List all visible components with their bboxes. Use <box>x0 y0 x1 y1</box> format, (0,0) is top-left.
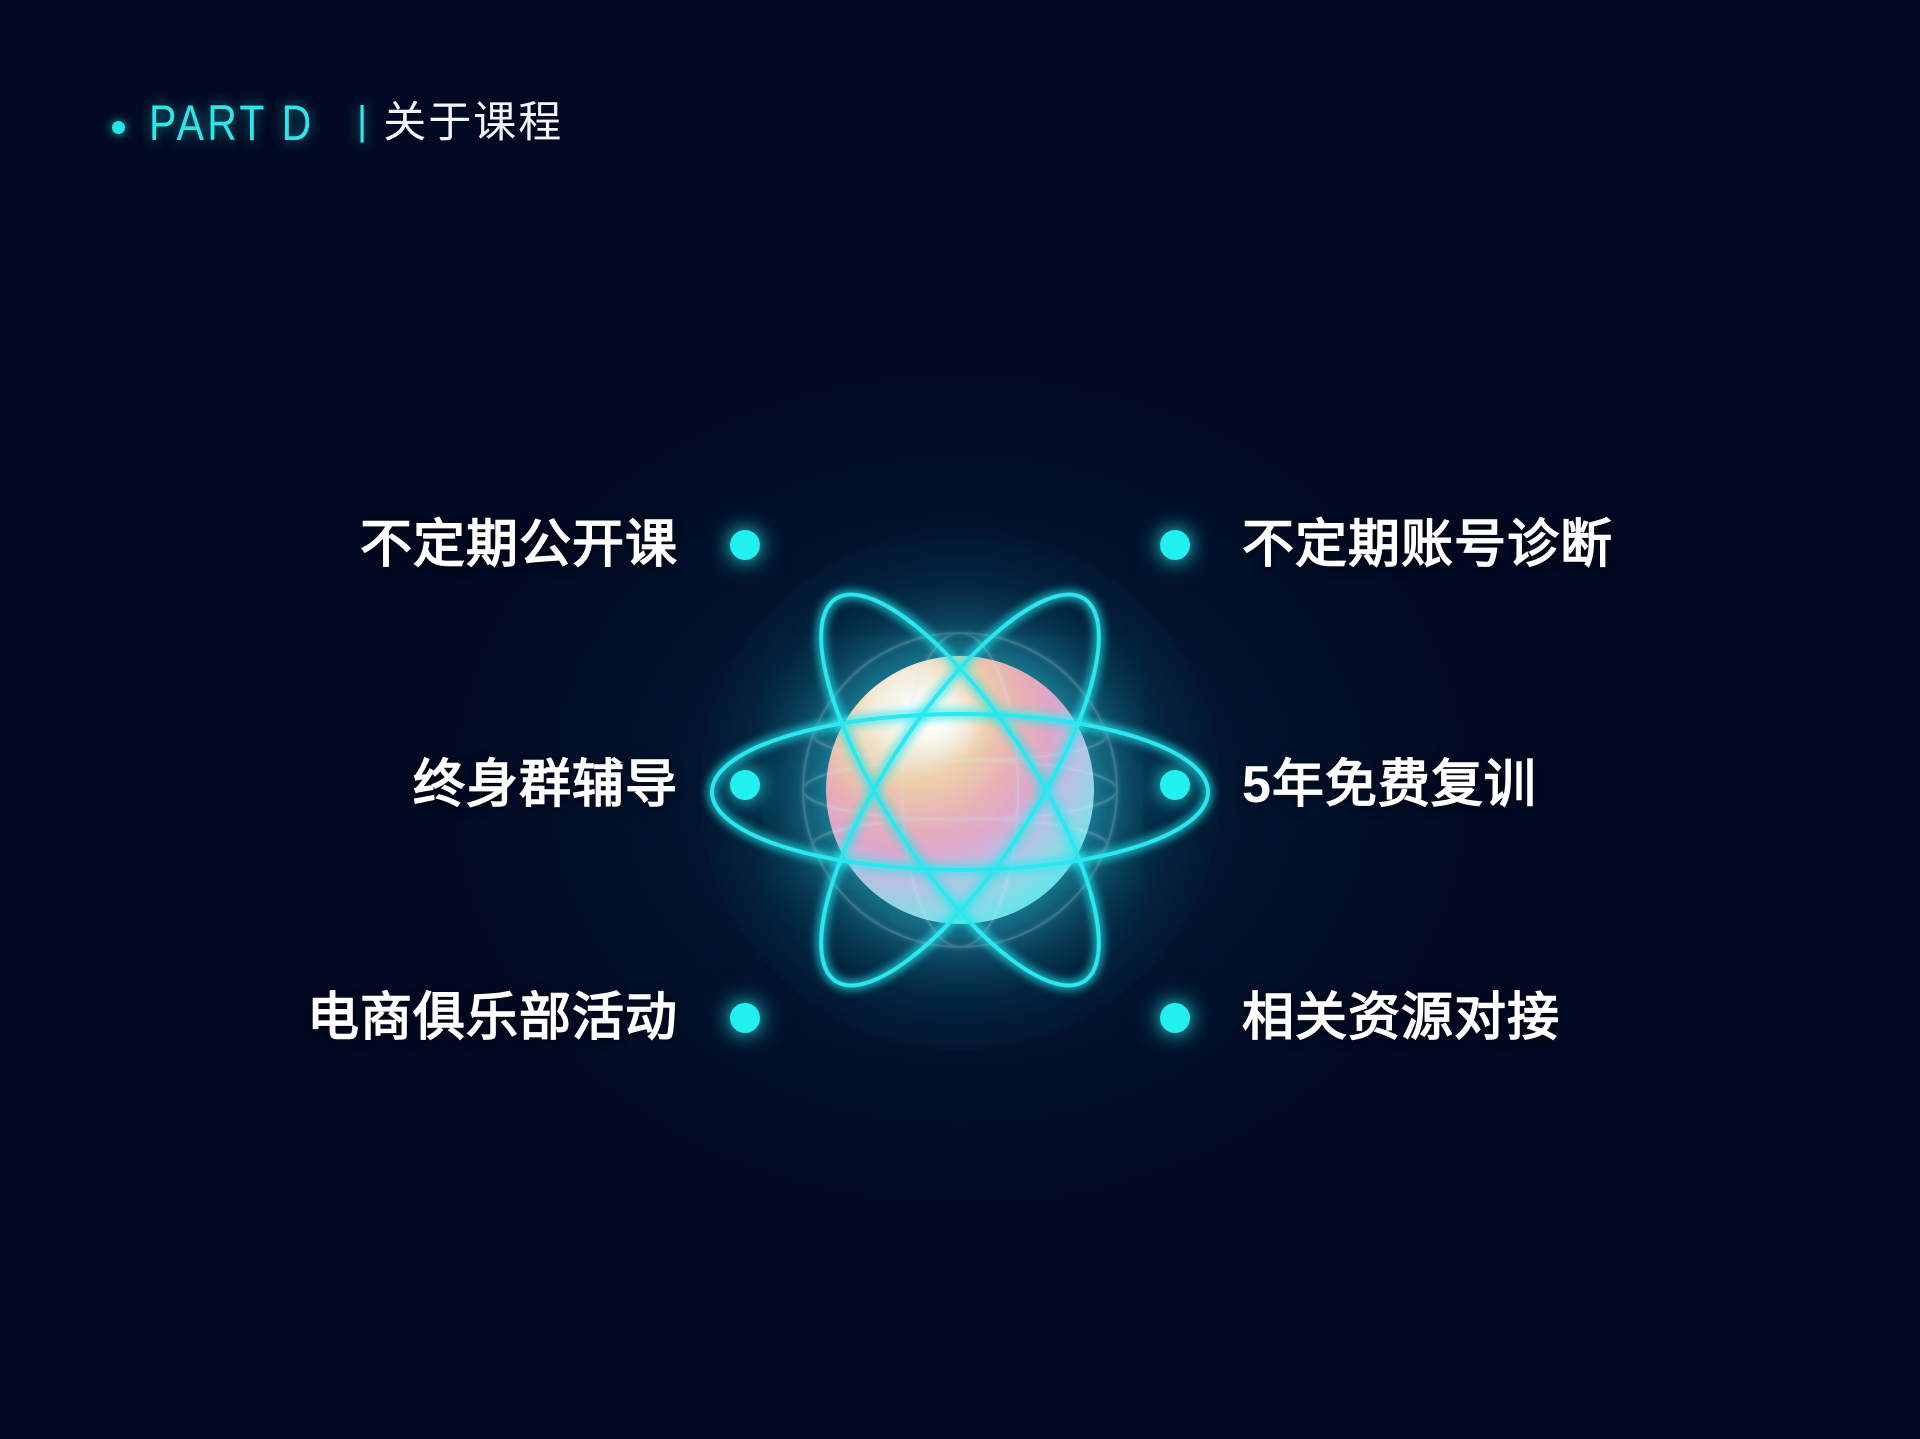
feature-dot-icon <box>730 770 760 800</box>
feature-item-right-1[interactable]: 5年免费复训 <box>1160 746 1920 824</box>
feature-row: 不定期公开课 不定期账号诊断 <box>0 506 1920 584</box>
slide-header: PART D | 关于课程 <box>112 92 563 154</box>
feature-label: 不定期账号诊断 <box>1242 506 1613 584</box>
feature-item-right-2[interactable]: 相关资源对接 <box>1160 979 1920 1057</box>
feature-item-left-1[interactable]: 终身群辅导 <box>0 746 760 824</box>
feature-item-left-2[interactable]: 电商俱乐部活动 <box>0 979 760 1057</box>
feature-label: 终身群辅导 <box>413 746 678 824</box>
feature-dot-icon <box>730 530 760 560</box>
feature-label: 电商俱乐部活动 <box>307 979 678 1057</box>
feature-label: 不定期公开课 <box>360 506 678 584</box>
feature-dot-icon <box>1160 530 1190 560</box>
feature-item-right-0[interactable]: 不定期账号诊断 <box>1160 506 1920 584</box>
feature-list: 不定期公开课 不定期账号诊断 终身群辅导 5年免费复训 电商俱乐部活动 <box>0 0 1920 1439</box>
header-divider: | <box>357 101 367 141</box>
feature-dot-icon <box>730 1003 760 1033</box>
part-label: PART D <box>149 98 315 148</box>
feature-dot-icon <box>1160 770 1190 800</box>
feature-dot-icon <box>1160 1003 1190 1033</box>
feature-label: 相关资源对接 <box>1242 979 1560 1057</box>
page-title: 关于课程 <box>383 102 563 145</box>
bullet-dot-icon <box>112 121 125 134</box>
feature-row: 终身群辅导 5年免费复训 <box>0 746 1920 824</box>
feature-label: 5年免费复训 <box>1242 746 1537 824</box>
feature-item-left-0[interactable]: 不定期公开课 <box>0 506 760 584</box>
feature-row: 电商俱乐部活动 相关资源对接 <box>0 979 1920 1057</box>
slide-root: PART D | 关于课程 <box>0 0 1920 1439</box>
